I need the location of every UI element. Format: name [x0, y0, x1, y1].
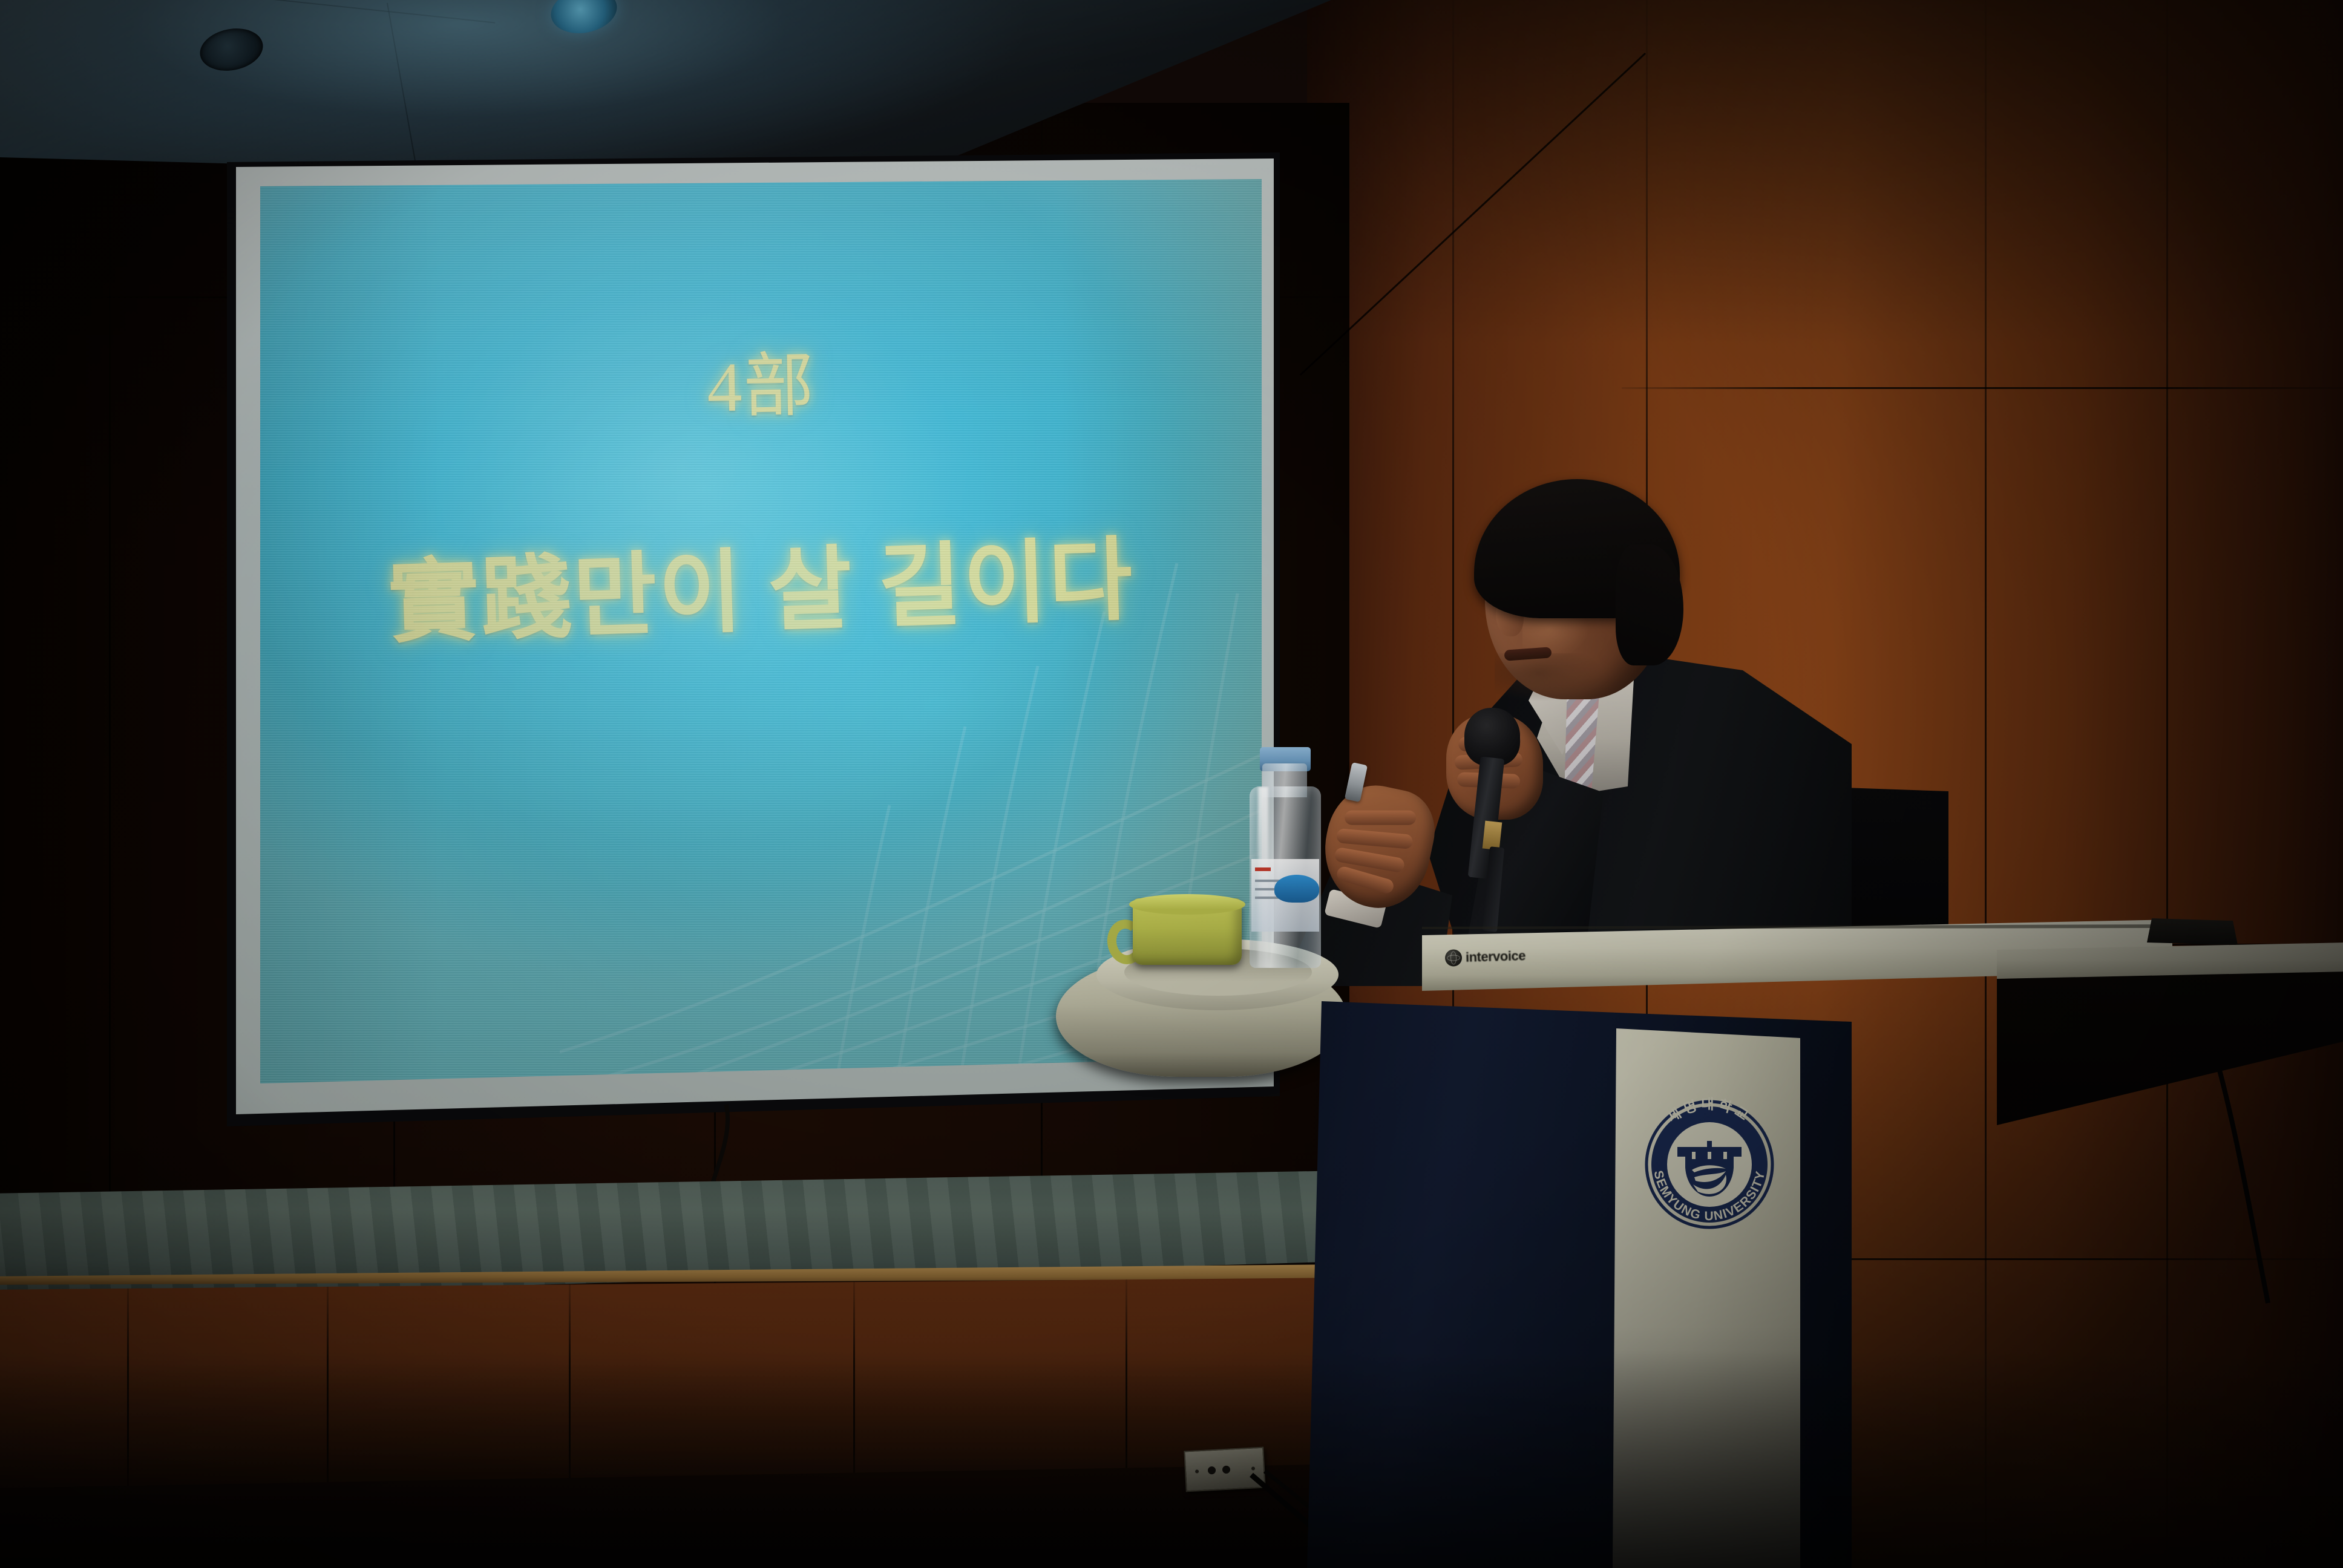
speaker-chin-shadow: [1495, 653, 1604, 702]
microphone-gold-band-icon: [1483, 821, 1502, 851]
water-bottle-label: [1251, 859, 1319, 932]
lectern-brand-label: intervoice: [1466, 948, 1526, 965]
bottle-label-red-mark-icon: [1255, 867, 1271, 871]
semyung-university-crest: 세명대학교 SEMYUNG UNIVERSITY: [1634, 1089, 1785, 1240]
speaker-person: [1355, 472, 1852, 956]
globe-icon: [1445, 949, 1463, 967]
lectern-brand-plate: intervoice: [1445, 947, 1526, 967]
slide-part-label: 4部: [260, 321, 1262, 440]
side-table-cable: [2191, 1053, 2312, 1307]
outlet-socket-left-icon: [1208, 1466, 1216, 1475]
speaker-hair-side: [1616, 544, 1683, 665]
outlet-socket-right-icon: [1222, 1466, 1231, 1474]
bottle-label-blue-graphic-icon: [1274, 875, 1319, 903]
lecture-hall-photo: 4部 實踐만이 살 길이다: [0, 0, 2343, 1568]
mug-rim: [1129, 894, 1245, 915]
slide-headline: 實踐만이 살 길이다: [260, 502, 1262, 665]
side-table-equipment: [2147, 918, 2238, 945]
outlet-screw-left-icon: [1195, 1469, 1199, 1473]
